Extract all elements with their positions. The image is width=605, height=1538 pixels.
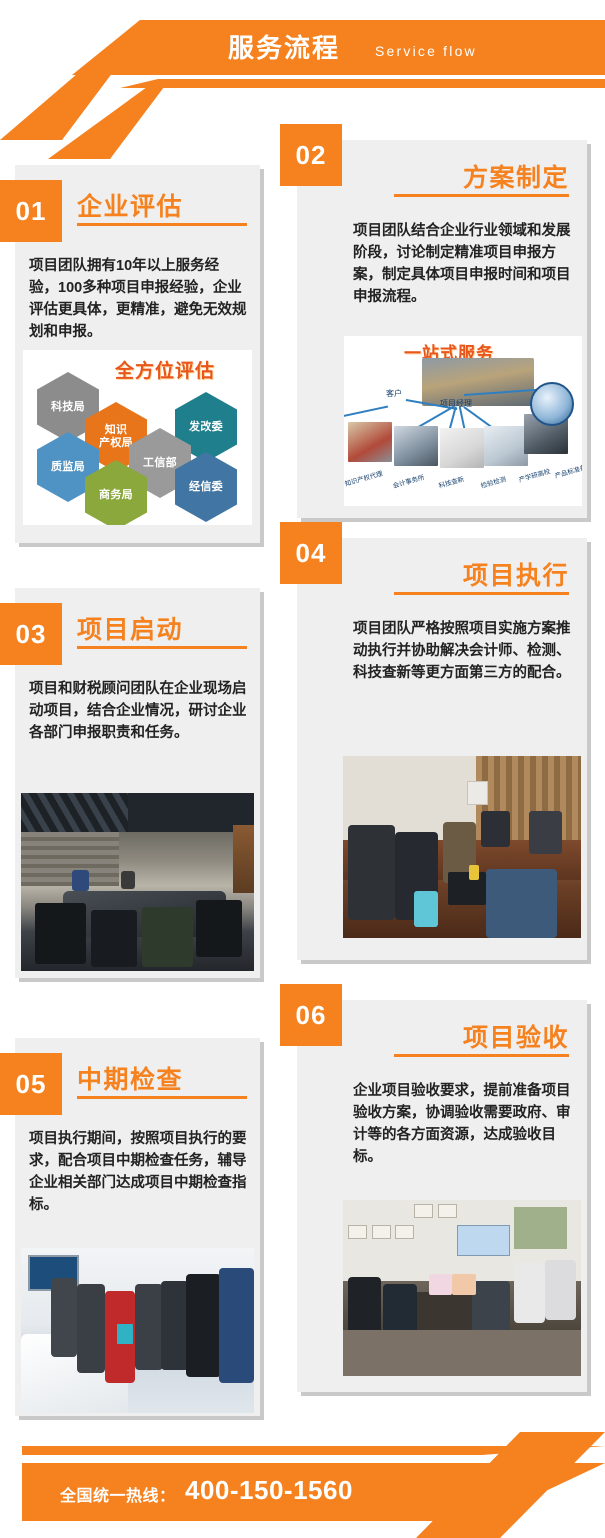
service-thumb-testing [484, 426, 528, 466]
step-title: 方案制定 [463, 158, 569, 194]
process-step-card-03: 03 项目启动 项目和财税顾问团队在企业现场启动项目，结合企业情况，研讨企业各部… [15, 588, 260, 978]
title-underline [77, 1096, 247, 1099]
process-step-card-06: 06 项目验收 企业项目验收要求，提前准备项目验收方案，协调验收需要政府、审计等… [297, 1000, 587, 1392]
step-description: 项目执行期间，按照项目执行的要求，配合项目中期检查任务，辅导企业相关部门达成项目… [29, 1128, 247, 1216]
page-header: 服务流程 Service flow [0, 0, 605, 105]
step-number-badge: 05 [0, 1053, 62, 1115]
title-underline [77, 646, 247, 649]
step-description: 企业项目验收要求，提前准备项目验收方案，协调验收需要政府、审计等的各方面资源，达… [353, 1080, 575, 1168]
title-underline [394, 194, 569, 197]
flow-arrow [344, 406, 388, 422]
step-number-badge: 02 [280, 124, 342, 186]
page-subtitle: Service flow [375, 41, 477, 61]
diagram-title: 全方位评估 [115, 356, 215, 383]
service-thumb-novelty [440, 428, 484, 468]
title-underline [394, 1054, 569, 1057]
service-label-standard: 产品标准备案 [553, 460, 582, 480]
service-thumb-standard-seal [530, 382, 574, 426]
photo-showroom-tour [21, 1248, 254, 1413]
hotline-label: 全国统一热线： [60, 1482, 176, 1506]
process-step-card-05: 05 中期检查 项目执行期间，按照项目执行的要求，配合项目中期检查任务，辅导企业… [15, 1038, 260, 1416]
hexagon-assessment-diagram: 全方位评估 科技局 知识 产权局 发改委 质监局 工信部 商务局 经信委 [23, 350, 252, 525]
step-title: 项目执行 [463, 556, 569, 592]
title-underline [394, 592, 569, 595]
diagram-hero-photo [422, 358, 534, 406]
step-description: 项目团队严格按照项目实施方案推动执行并协助解决会计师、检测、科技查新等更方面第三… [353, 618, 575, 684]
service-thumb-accounting [394, 426, 438, 466]
hotline-number[interactable]: 400-150-1560 [185, 1475, 353, 1506]
service-thumb-ip [348, 422, 392, 462]
step-description: 项目和财税顾问团队在企业现场启动项目，结合企业情况，研讨企业各部门申报职责和任务… [29, 678, 247, 744]
title-underline [77, 223, 247, 226]
service-label-testing: 检验检测 [479, 473, 507, 490]
step-description: 项目团队拥有10年以上服务经验，100多种项目申报经验，企业评估更具体，更精准，… [29, 255, 247, 343]
step-number-badge: 03 [0, 603, 62, 665]
photo-boardroom-presentation [343, 1200, 581, 1376]
process-step-card-04: 04 项目执行 项目团队严格按照项目实施方案推动执行并协助解决会计师、检测、科技… [297, 538, 587, 960]
one-stop-service-diagram: 一站式服务 客户 项目经理 知识产权代理 会计事务所 科技查新 检验检测 产学研… [344, 336, 582, 506]
photo-meeting-laptops [343, 756, 581, 938]
step-title: 中期检查 [77, 1060, 183, 1096]
label-project-manager: 项目经理 [440, 398, 472, 409]
page-footer: 全国统一热线： 400-150-1560 [0, 1432, 605, 1538]
step-title: 项目验收 [463, 1018, 569, 1054]
service-label-accounting: 会计事务所 [391, 471, 425, 490]
step-title: 企业评估 [77, 187, 183, 223]
step-description: 项目团队结合企业行业领域和发展阶段，讨论制定精准项目申报方案，制定具体项目申报时… [353, 220, 575, 308]
service-label-ip: 知识产权代理 [344, 468, 383, 488]
process-step-card-01: 01 企业评估 项目团队拥有10年以上服务经验，100多种项目申报经验，企业评估… [15, 165, 260, 543]
step-number-badge: 01 [0, 180, 62, 242]
step-title: 项目启动 [77, 610, 183, 646]
step-number-badge: 06 [280, 984, 342, 1046]
process-step-card-02: 02 方案制定 项目团队结合企业行业领域和发展阶段，讨论制定精准项目申报方案，制… [297, 140, 587, 518]
page-title: 服务流程 [228, 30, 340, 66]
service-label-novelty: 科技查新 [437, 473, 465, 490]
service-label-university: 产学研高校 [517, 465, 551, 484]
label-client: 客户 [386, 388, 402, 399]
step-number-badge: 04 [280, 522, 342, 584]
photo-conference-room [21, 793, 254, 971]
